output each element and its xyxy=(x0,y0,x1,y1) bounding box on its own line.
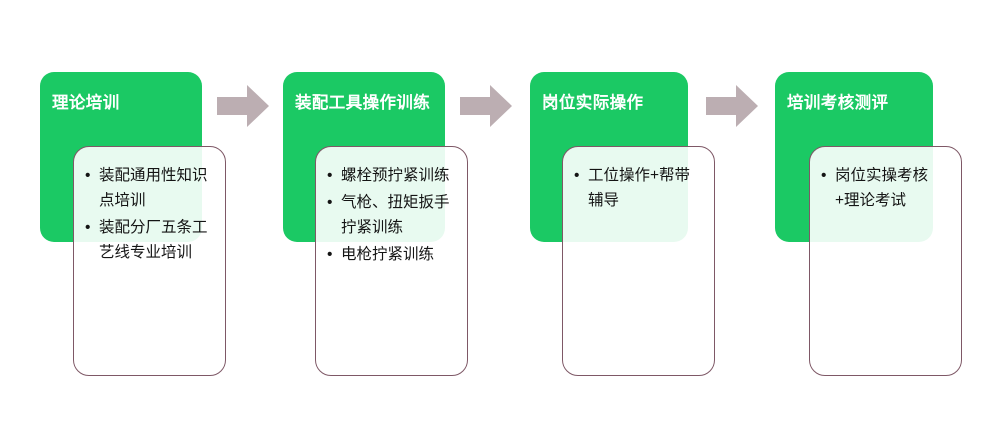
stage-bullet-list-3: • 工位操作+帮带辅导 xyxy=(573,163,700,213)
arrow-right-icon xyxy=(460,85,512,127)
list-item: • 工位操作+帮带辅导 xyxy=(573,163,700,213)
list-item-text: 气枪、扭矩扳手拧紧训练 xyxy=(341,194,450,236)
bullet-dot-icon: • xyxy=(327,190,332,215)
stage-title-2: 装配工具操作训练 xyxy=(295,94,430,112)
bullet-dot-icon: • xyxy=(574,163,579,188)
bullet-dot-icon: • xyxy=(85,163,90,188)
list-item-text: 工位操作+帮带辅导 xyxy=(588,167,690,209)
list-item: • 岗位实操考核+理论考试 xyxy=(820,163,947,213)
list-item-text: 螺栓预拧紧训练 xyxy=(341,167,450,184)
stage-card-body-3: • 工位操作+帮带辅导 xyxy=(563,147,714,225)
arrow-right-icon xyxy=(217,85,269,127)
list-item-text: 装配分厂五条工艺线专业培训 xyxy=(99,219,208,261)
stage-card-body-1: • 装配通用性知识点培训 • 装配分厂五条工艺线专业培训 xyxy=(74,147,225,277)
flow-diagram-canvas: 理论培训 • 装配通用性知识点培训 • 装配分厂五条工艺线专业培训 装配工具操作… xyxy=(0,0,994,437)
stage-card-3[interactable]: • 工位操作+帮带辅导 xyxy=(562,146,715,376)
stage-card-body-4: • 岗位实操考核+理论考试 xyxy=(810,147,961,225)
list-item: • 螺栓预拧紧训练 xyxy=(326,163,453,188)
bullet-dot-icon: • xyxy=(85,215,90,240)
list-item: • 气枪、扭矩扳手拧紧训练 xyxy=(326,190,453,240)
stage-card-2[interactable]: • 螺栓预拧紧训练 • 气枪、扭矩扳手拧紧训练 • 电枪拧紧训练 xyxy=(315,146,468,376)
bullet-dot-icon: • xyxy=(327,163,332,188)
stage-title-4: 培训考核测评 xyxy=(787,94,888,112)
stage-card-body-2: • 螺栓预拧紧训练 • 气枪、扭矩扳手拧紧训练 • 电枪拧紧训练 xyxy=(316,147,467,279)
stage-card-1[interactable]: • 装配通用性知识点培训 • 装配分厂五条工艺线专业培训 xyxy=(73,146,226,376)
stage-bullet-list-2: • 螺栓预拧紧训练 • 气枪、扭矩扳手拧紧训练 • 电枪拧紧训练 xyxy=(326,163,453,267)
stage-bullet-list-4: • 岗位实操考核+理论考试 xyxy=(820,163,947,213)
stage-title-1: 理论培训 xyxy=(52,94,120,112)
bullet-dot-icon: • xyxy=(821,163,826,188)
list-item: • 电枪拧紧训练 xyxy=(326,242,453,267)
stage-card-4[interactable]: • 岗位实操考核+理论考试 xyxy=(809,146,962,376)
list-item: • 装配分厂五条工艺线专业培训 xyxy=(84,215,211,265)
stage-title-3: 岗位实际操作 xyxy=(542,94,643,112)
list-item-text: 岗位实操考核+理论考试 xyxy=(835,167,928,209)
stage-bullet-list-1: • 装配通用性知识点培训 • 装配分厂五条工艺线专业培训 xyxy=(84,163,211,265)
bullet-dot-icon: • xyxy=(327,242,332,267)
list-item: • 装配通用性知识点培训 xyxy=(84,163,211,213)
list-item-text: 装配通用性知识点培训 xyxy=(99,167,208,209)
list-item-text: 电枪拧紧训练 xyxy=(341,246,434,263)
arrow-right-icon xyxy=(706,85,758,127)
